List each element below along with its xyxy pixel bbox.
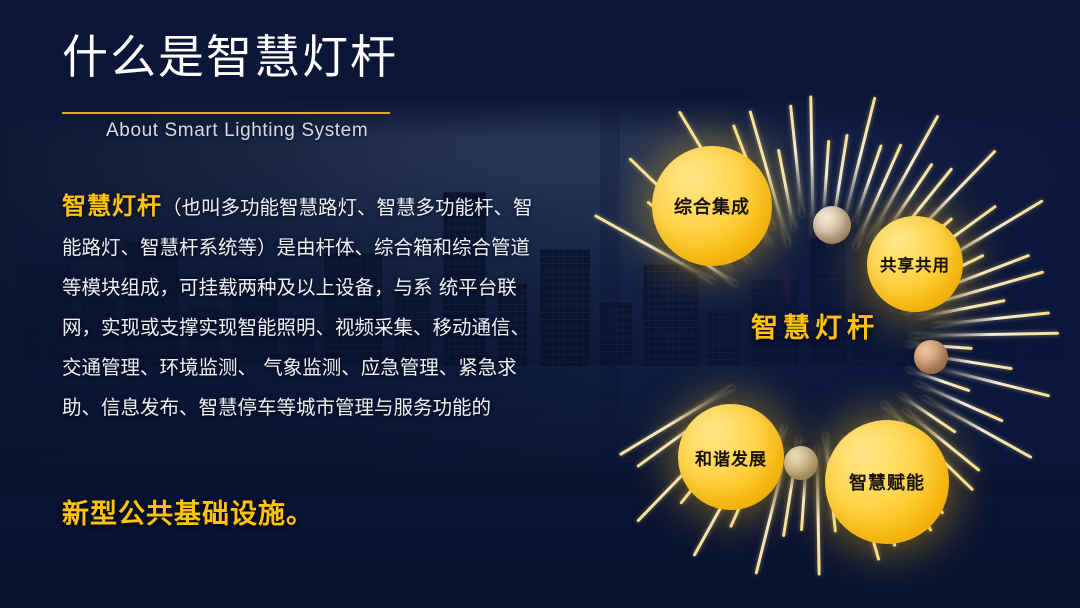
node-label: 共享共用 [880, 252, 950, 276]
diagram-center-label: 智慧灯杆 [600, 306, 1030, 345]
paragraph-text: （也叫多功能智慧路灯、智慧多功能杆、智能路灯、智慧杆系统等）是由杆体、综合箱和综… [62, 196, 533, 419]
accent-sphere-2 [914, 340, 948, 374]
title-divider [62, 112, 390, 114]
page-title: 什么是智慧灯杆 [62, 34, 398, 80]
body-paragraph: 智慧灯杆（也叫多功能智慧路灯、智慧多功能杆、智能路灯、智慧杆系统等）是由杆体、综… [62, 186, 542, 428]
page-subtitle: About Smart Lighting System [106, 120, 368, 142]
keyword-term: 智慧灯杆 [62, 192, 162, 220]
accent-sphere-3 [784, 446, 818, 480]
node-label: 和谐发展 [695, 445, 767, 470]
burst-ray [789, 105, 804, 217]
smart-pole-burst-diagram: 综合集成 共享共用 和谐发展 智慧赋能 智慧灯杆 [600, 88, 1030, 588]
accent-sphere-1 [813, 206, 851, 244]
diagram-node-smart-empowerment[interactable]: 智慧赋能 [825, 420, 949, 544]
diagram-node-comprehensive-integration[interactable]: 综合集成 [652, 146, 772, 266]
node-label: 智慧赋能 [849, 469, 925, 495]
node-label: 综合集成 [674, 193, 750, 219]
closing-statement: 新型公共基础设施。 [62, 492, 314, 531]
burst-ray [809, 96, 814, 237]
slide-canvas: 什么是智慧灯杆 About Smart Lighting System 智慧灯杆… [0, 0, 1080, 608]
diagram-node-harmonious-development[interactable]: 和谐发展 [678, 404, 784, 510]
diagram-node-shared-use[interactable]: 共享共用 [867, 216, 963, 312]
